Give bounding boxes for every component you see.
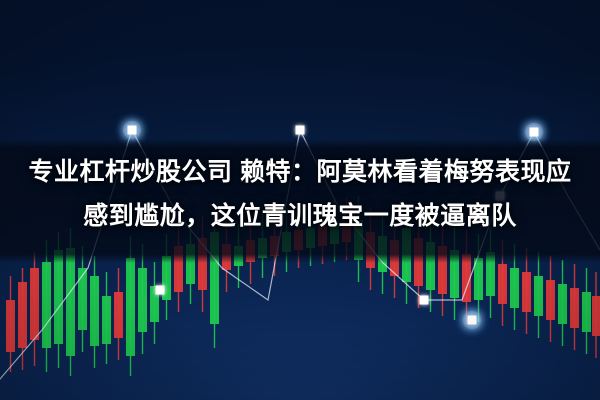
banner-image: 专业杠杆炒股公司 赖特：阿莫林看着梅努表现应 感到尴尬，这位青训瑰宝一度被逼离队 [0,0,600,400]
headline-line-2: 感到尴尬，这位青训瑰宝一度被逼离队 [0,194,600,238]
headline-line-1: 专业杠杆炒股公司 赖特：阿莫林看着梅努表现应 [0,150,600,194]
headline: 专业杠杆炒股公司 赖特：阿莫林看着梅努表现应 感到尴尬，这位青训瑰宝一度被逼离队 [0,150,600,238]
